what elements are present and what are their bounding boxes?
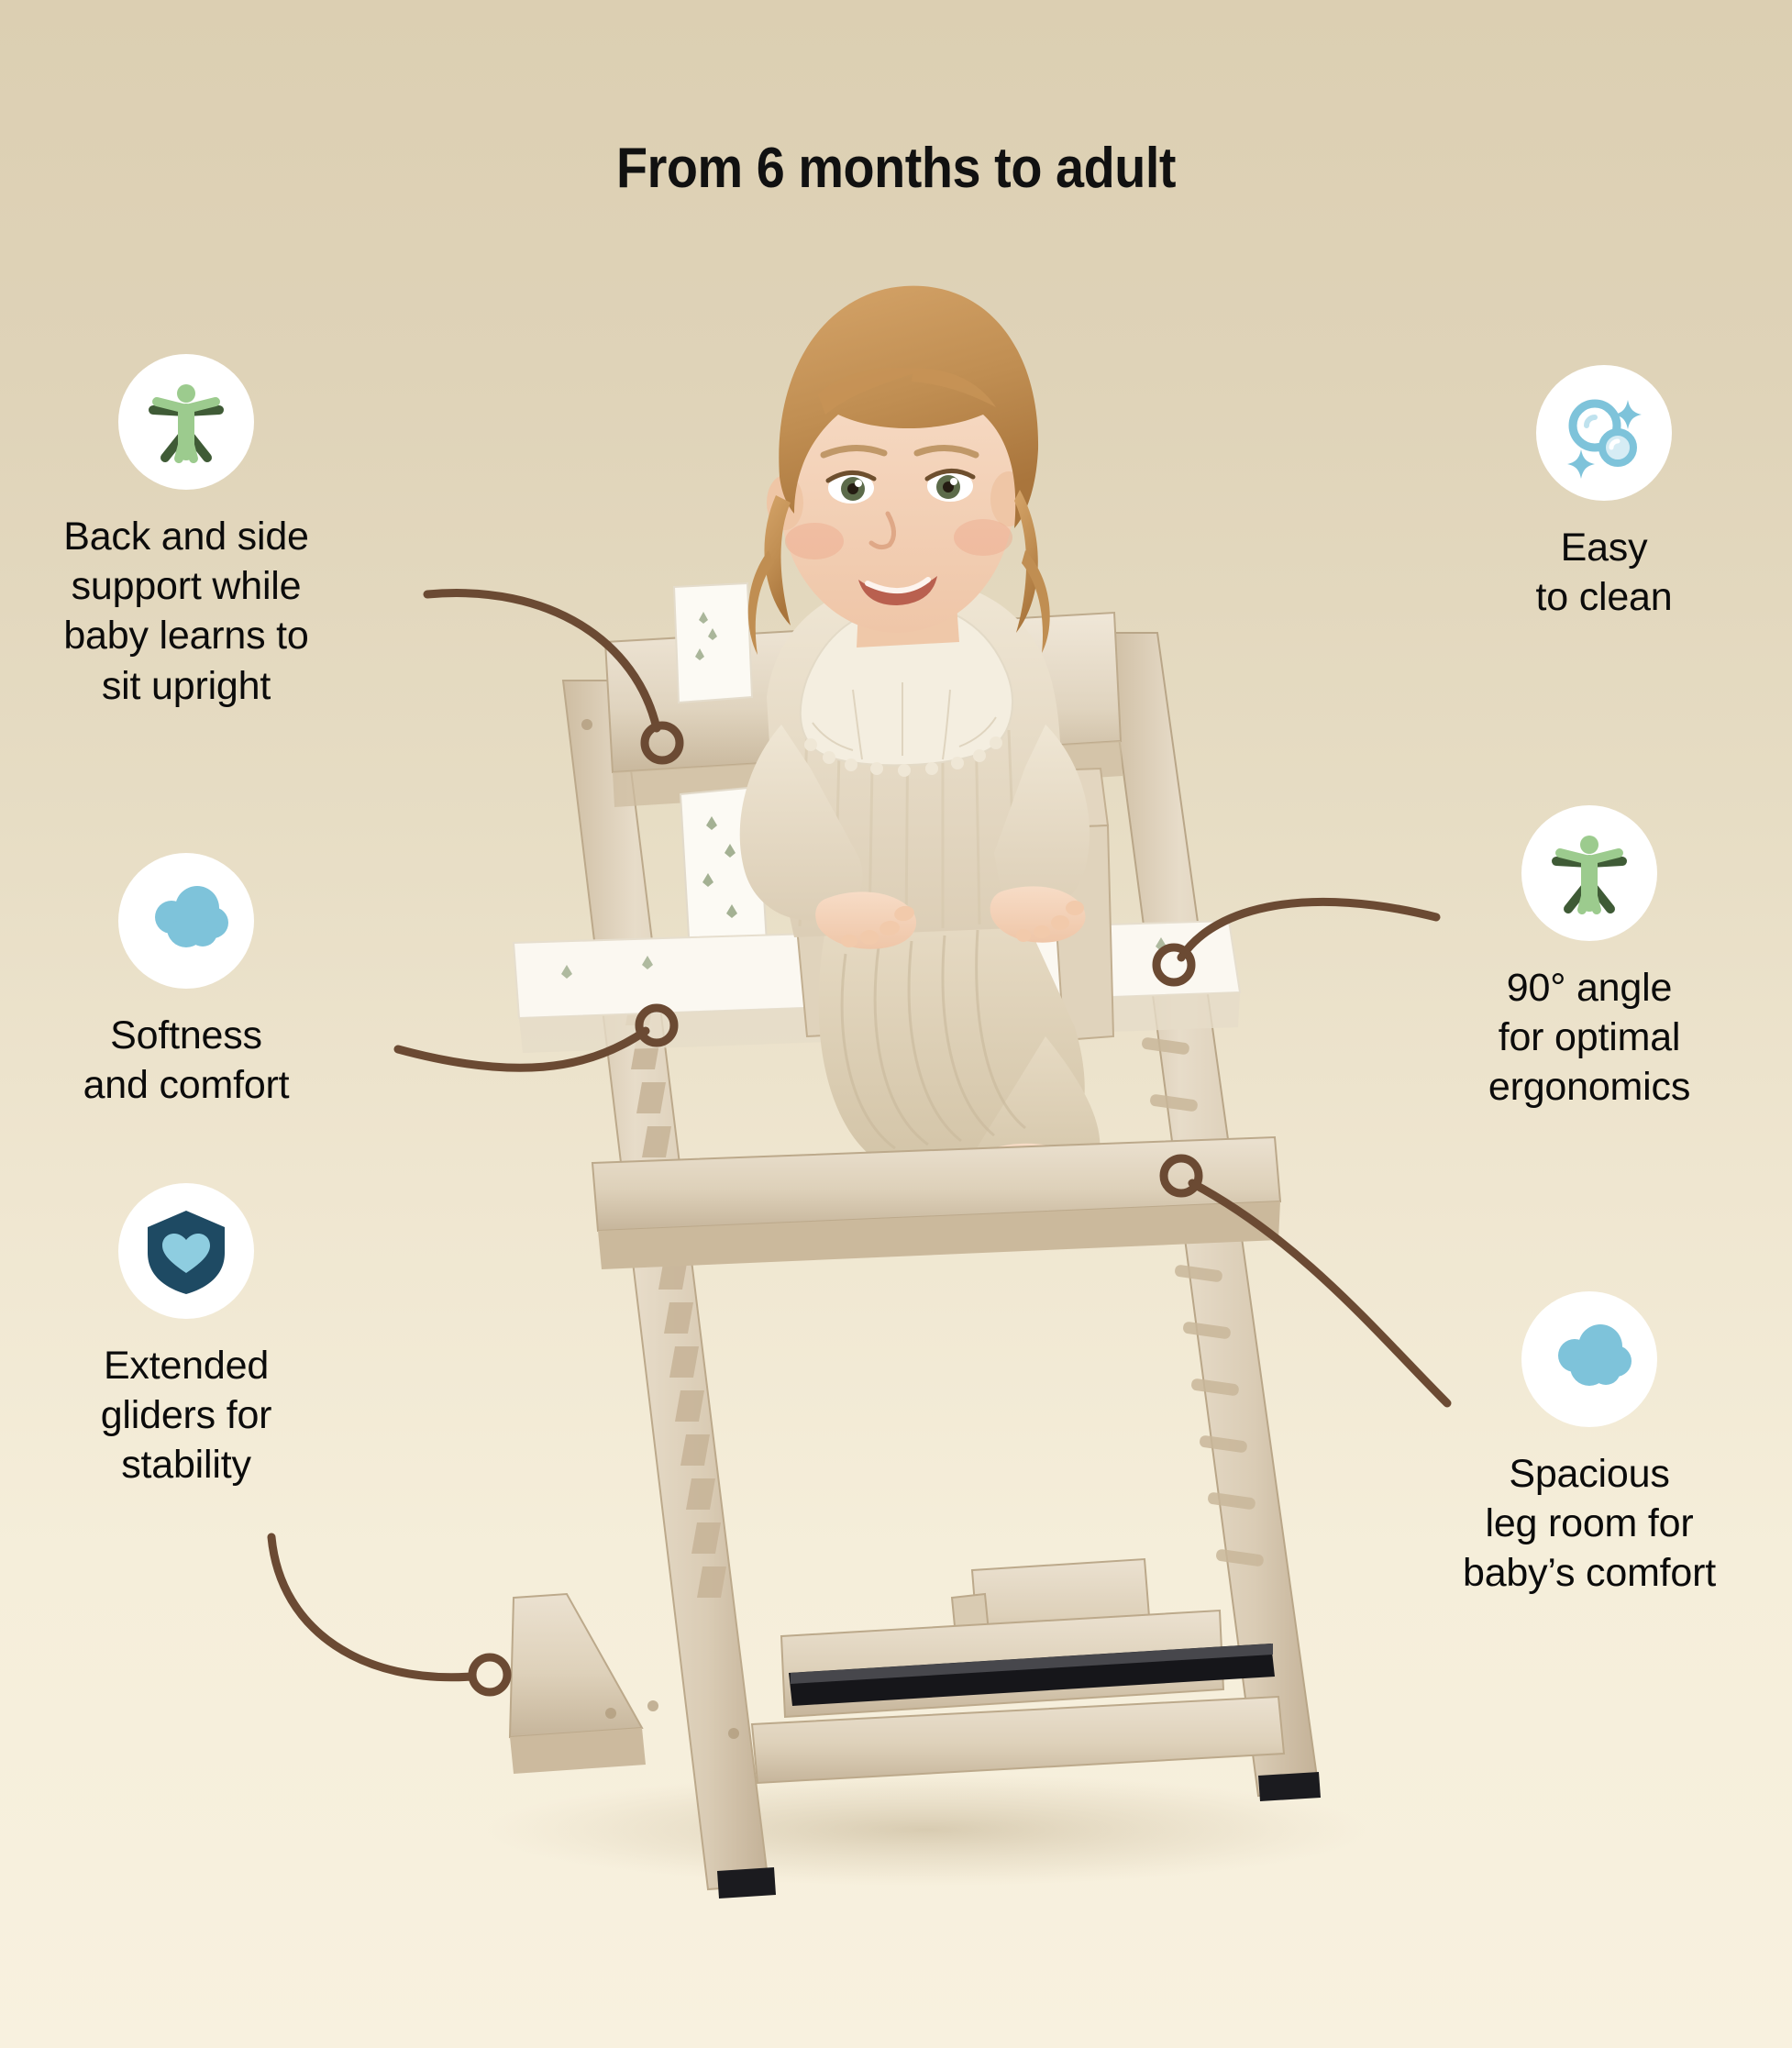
callout-legroom: Spacious leg room for baby’s comfort [1420,1291,1759,1599]
callout-softness: Softness and comfort [17,853,356,1110]
callout-back-support: Back and side support while baby learns … [17,354,356,711]
callout-label-easy-clean: Easy to clean [1535,523,1672,622]
chair-floor-bar [789,1644,1275,1706]
infographic-canvas: From 6 months to adult [0,0,1792,2048]
chair-gliders [510,1594,1284,1783]
connector-softness [398,1031,646,1068]
badge-back-support [118,354,254,490]
vitruvian-figure-icon [140,376,232,468]
callout-label-legroom: Spacious leg room for baby’s comfort [1463,1449,1716,1599]
callout-label-back-support: Back and side support while baby learns … [63,512,309,711]
badge-softness [118,853,254,989]
connector-dot-angle [1156,947,1191,982]
connector-angle [1181,902,1436,958]
connector-gliders [271,1537,471,1677]
callout-gliders: Extended gliders for stability [17,1183,356,1490]
chair-seat [514,921,1240,1053]
chair-backrest [605,613,1123,807]
chair-footrest [781,1559,1223,1717]
page-title: From 6 months to adult [90,136,1703,201]
chair-feet [717,1772,1321,1899]
badge-angle [1521,805,1657,941]
connector-dot-back-support [645,725,680,760]
cloud-icon [138,873,234,969]
cloud-icon [1542,1312,1637,1407]
vitruvian-figure-icon [1543,827,1635,919]
connector-legroom [1192,1183,1447,1403]
side-cushion [680,787,767,952]
bubbles-sparkle-icon [1556,385,1652,481]
callout-angle: 90° angle for optimal ergonomics [1420,805,1759,1113]
connector-back-support [427,593,657,728]
chair-right-upright [1105,633,1319,1796]
connector-dot-softness [639,1008,674,1043]
chair-foot-plate [592,1137,1280,1269]
badge-easy-clean [1536,365,1672,501]
shield-heart-icon [142,1205,230,1297]
backrest-cushion-upper [674,583,752,703]
callout-label-angle: 90° angle for optimal ergonomics [1488,963,1690,1113]
badge-legroom [1521,1291,1657,1427]
callout-easy-clean: Easy to clean [1434,365,1774,622]
callout-label-gliders: Extended gliders for stability [101,1341,272,1490]
badge-gliders [118,1183,254,1319]
connector-dot-legroom [1164,1158,1199,1193]
baby-set-rail [781,769,1113,1040]
connector-dot-gliders [472,1657,507,1692]
chair-left-upright [563,681,769,1889]
baby [740,286,1101,1208]
callout-label-softness: Softness and comfort [83,1011,290,1110]
